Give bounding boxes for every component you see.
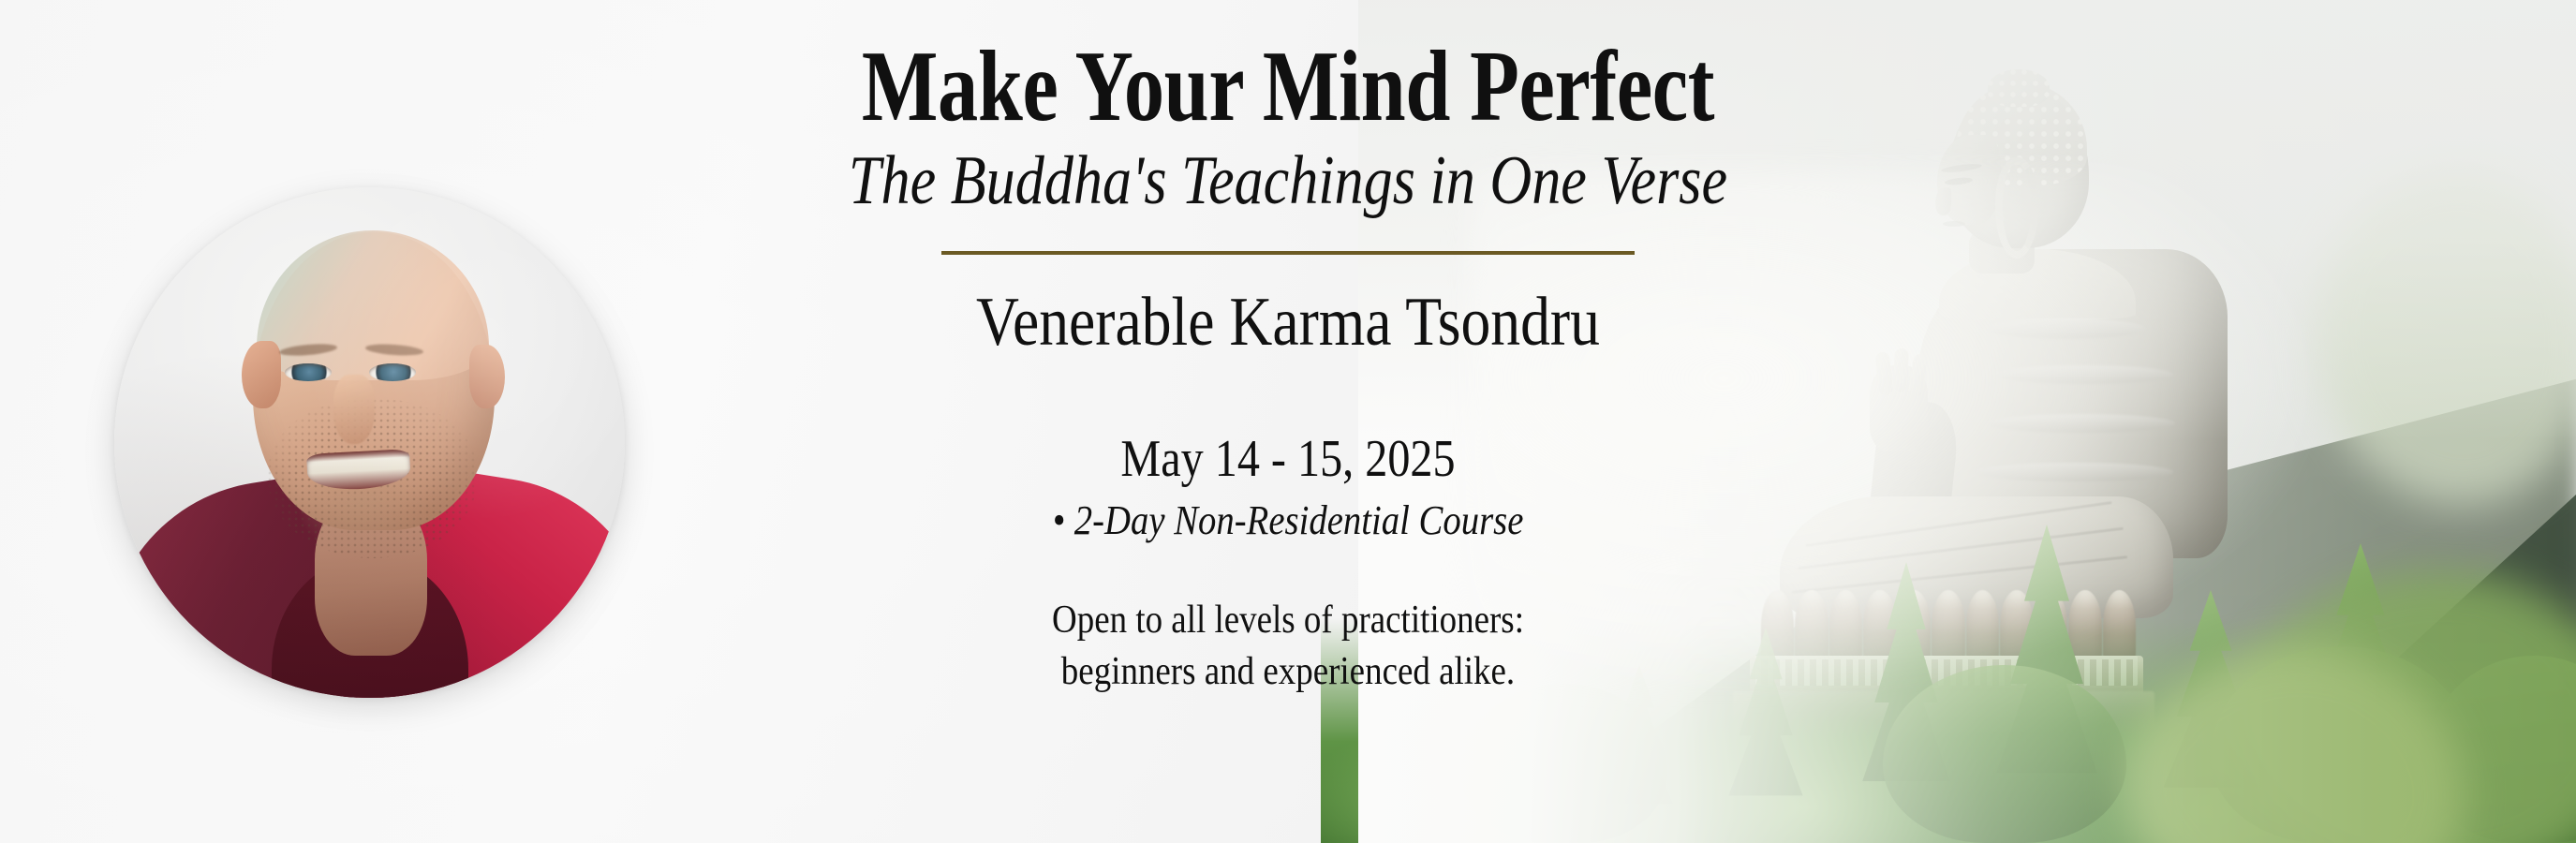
course-banner: Make Your Mind Perfect The Buddha's Teac… bbox=[0, 0, 2576, 843]
banner-text-column: Make Your Mind Perfect The Buddha's Teac… bbox=[656, 0, 1920, 843]
audience-note-line-1: Open to all levels of practitioners: bbox=[732, 595, 1844, 646]
portrait-ear-icon bbox=[469, 345, 505, 408]
event-title: Make Your Mind Perfect bbox=[782, 0, 1794, 139]
audience-note: Open to all levels of practitioners: beg… bbox=[732, 595, 1844, 699]
presenter-name: Venerable Karma Tsondru bbox=[745, 287, 1832, 360]
event-date: May 14 - 15, 2025 bbox=[745, 429, 1832, 489]
event-subtitle: The Buddha's Teachings in One Verse bbox=[757, 144, 1819, 219]
audience-note-line-2: beginners and experienced alike. bbox=[732, 646, 1844, 698]
portrait-eye-icon bbox=[369, 363, 416, 381]
portrait-eye-icon bbox=[285, 363, 332, 381]
event-format: • 2-Day Non-Residential Course bbox=[732, 496, 1844, 544]
teacher-portrait-avatar bbox=[114, 187, 625, 698]
title-divider bbox=[941, 251, 1635, 255]
portrait-ear-icon bbox=[242, 341, 281, 408]
portrait-nose-icon bbox=[333, 375, 375, 444]
